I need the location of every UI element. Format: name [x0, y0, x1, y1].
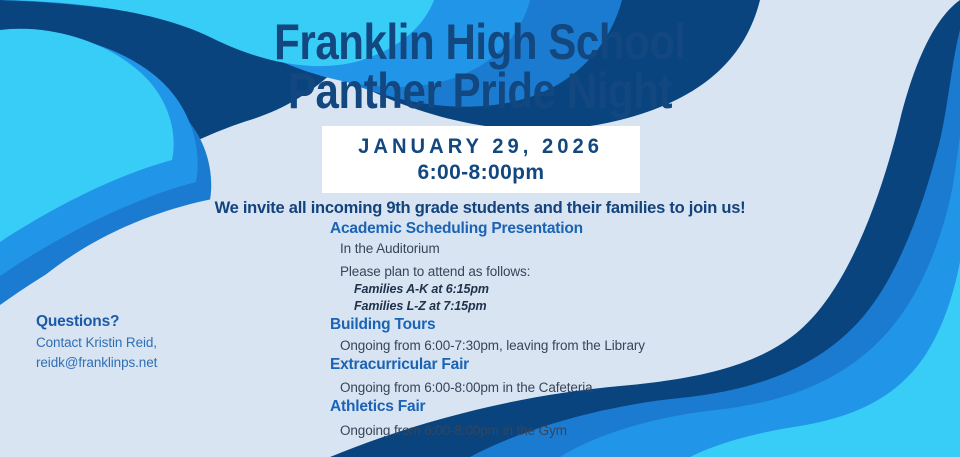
section-detail: Please plan to attend as follows: — [330, 262, 760, 281]
event-date: JANUARY 29, 2026 — [359, 135, 604, 159]
schedule-item: Extracurricular Fair Ongoing from 6:00-8… — [330, 355, 760, 398]
schedule-item: Academic Scheduling Presentation In the … — [330, 219, 760, 315]
section-detail: In the Auditorium — [330, 239, 760, 258]
title-line-2: Panther Pride Night — [77, 67, 883, 116]
contact-name: Contact Kristin Reid, — [36, 333, 266, 353]
section-emphasis: Families L-Z at 7:15pm — [330, 298, 760, 315]
date-time-box: JANUARY 29, 2026 6:00-8:00pm — [322, 126, 640, 193]
page-title: Franklin High School Panther Pride Night — [0, 18, 960, 116]
questions-heading: Questions? — [36, 310, 266, 333]
title-line-1: Franklin High School — [77, 18, 883, 67]
section-detail: Ongoing from 6:00-8:00pm in the Gym — [330, 421, 760, 440]
section-heading: Athletics Fair — [330, 397, 760, 417]
flyer-canvas: Franklin High School Panther Pride Night… — [0, 0, 960, 457]
schedule-list: Academic Scheduling Presentation In the … — [330, 219, 760, 440]
section-heading: Building Tours — [330, 315, 760, 335]
questions-block: Questions? Contact Kristin Reid, reidk@f… — [36, 310, 266, 372]
section-heading: Extracurricular Fair — [330, 355, 760, 375]
schedule-item: Building Tours Ongoing from 6:00-7:30pm,… — [330, 315, 760, 355]
section-heading: Academic Scheduling Presentation — [330, 219, 760, 239]
section-emphasis: Families A-K at 6:15pm — [330, 281, 760, 298]
flyer-content: Franklin High School Panther Pride Night… — [0, 0, 960, 457]
section-detail: Ongoing from 6:00-7:30pm, leaving from t… — [330, 336, 760, 355]
invite-headline: We invite all incoming 9th grade student… — [0, 199, 960, 218]
schedule-item: Athletics Fair Ongoing from 6:00-8:00pm … — [330, 397, 760, 440]
event-time: 6:00-8:00pm — [418, 161, 545, 185]
contact-email[interactable]: reidk@franklinps.net — [36, 353, 266, 373]
section-detail: Ongoing from 6:00-8:00pm in the Cafeteri… — [330, 378, 760, 397]
